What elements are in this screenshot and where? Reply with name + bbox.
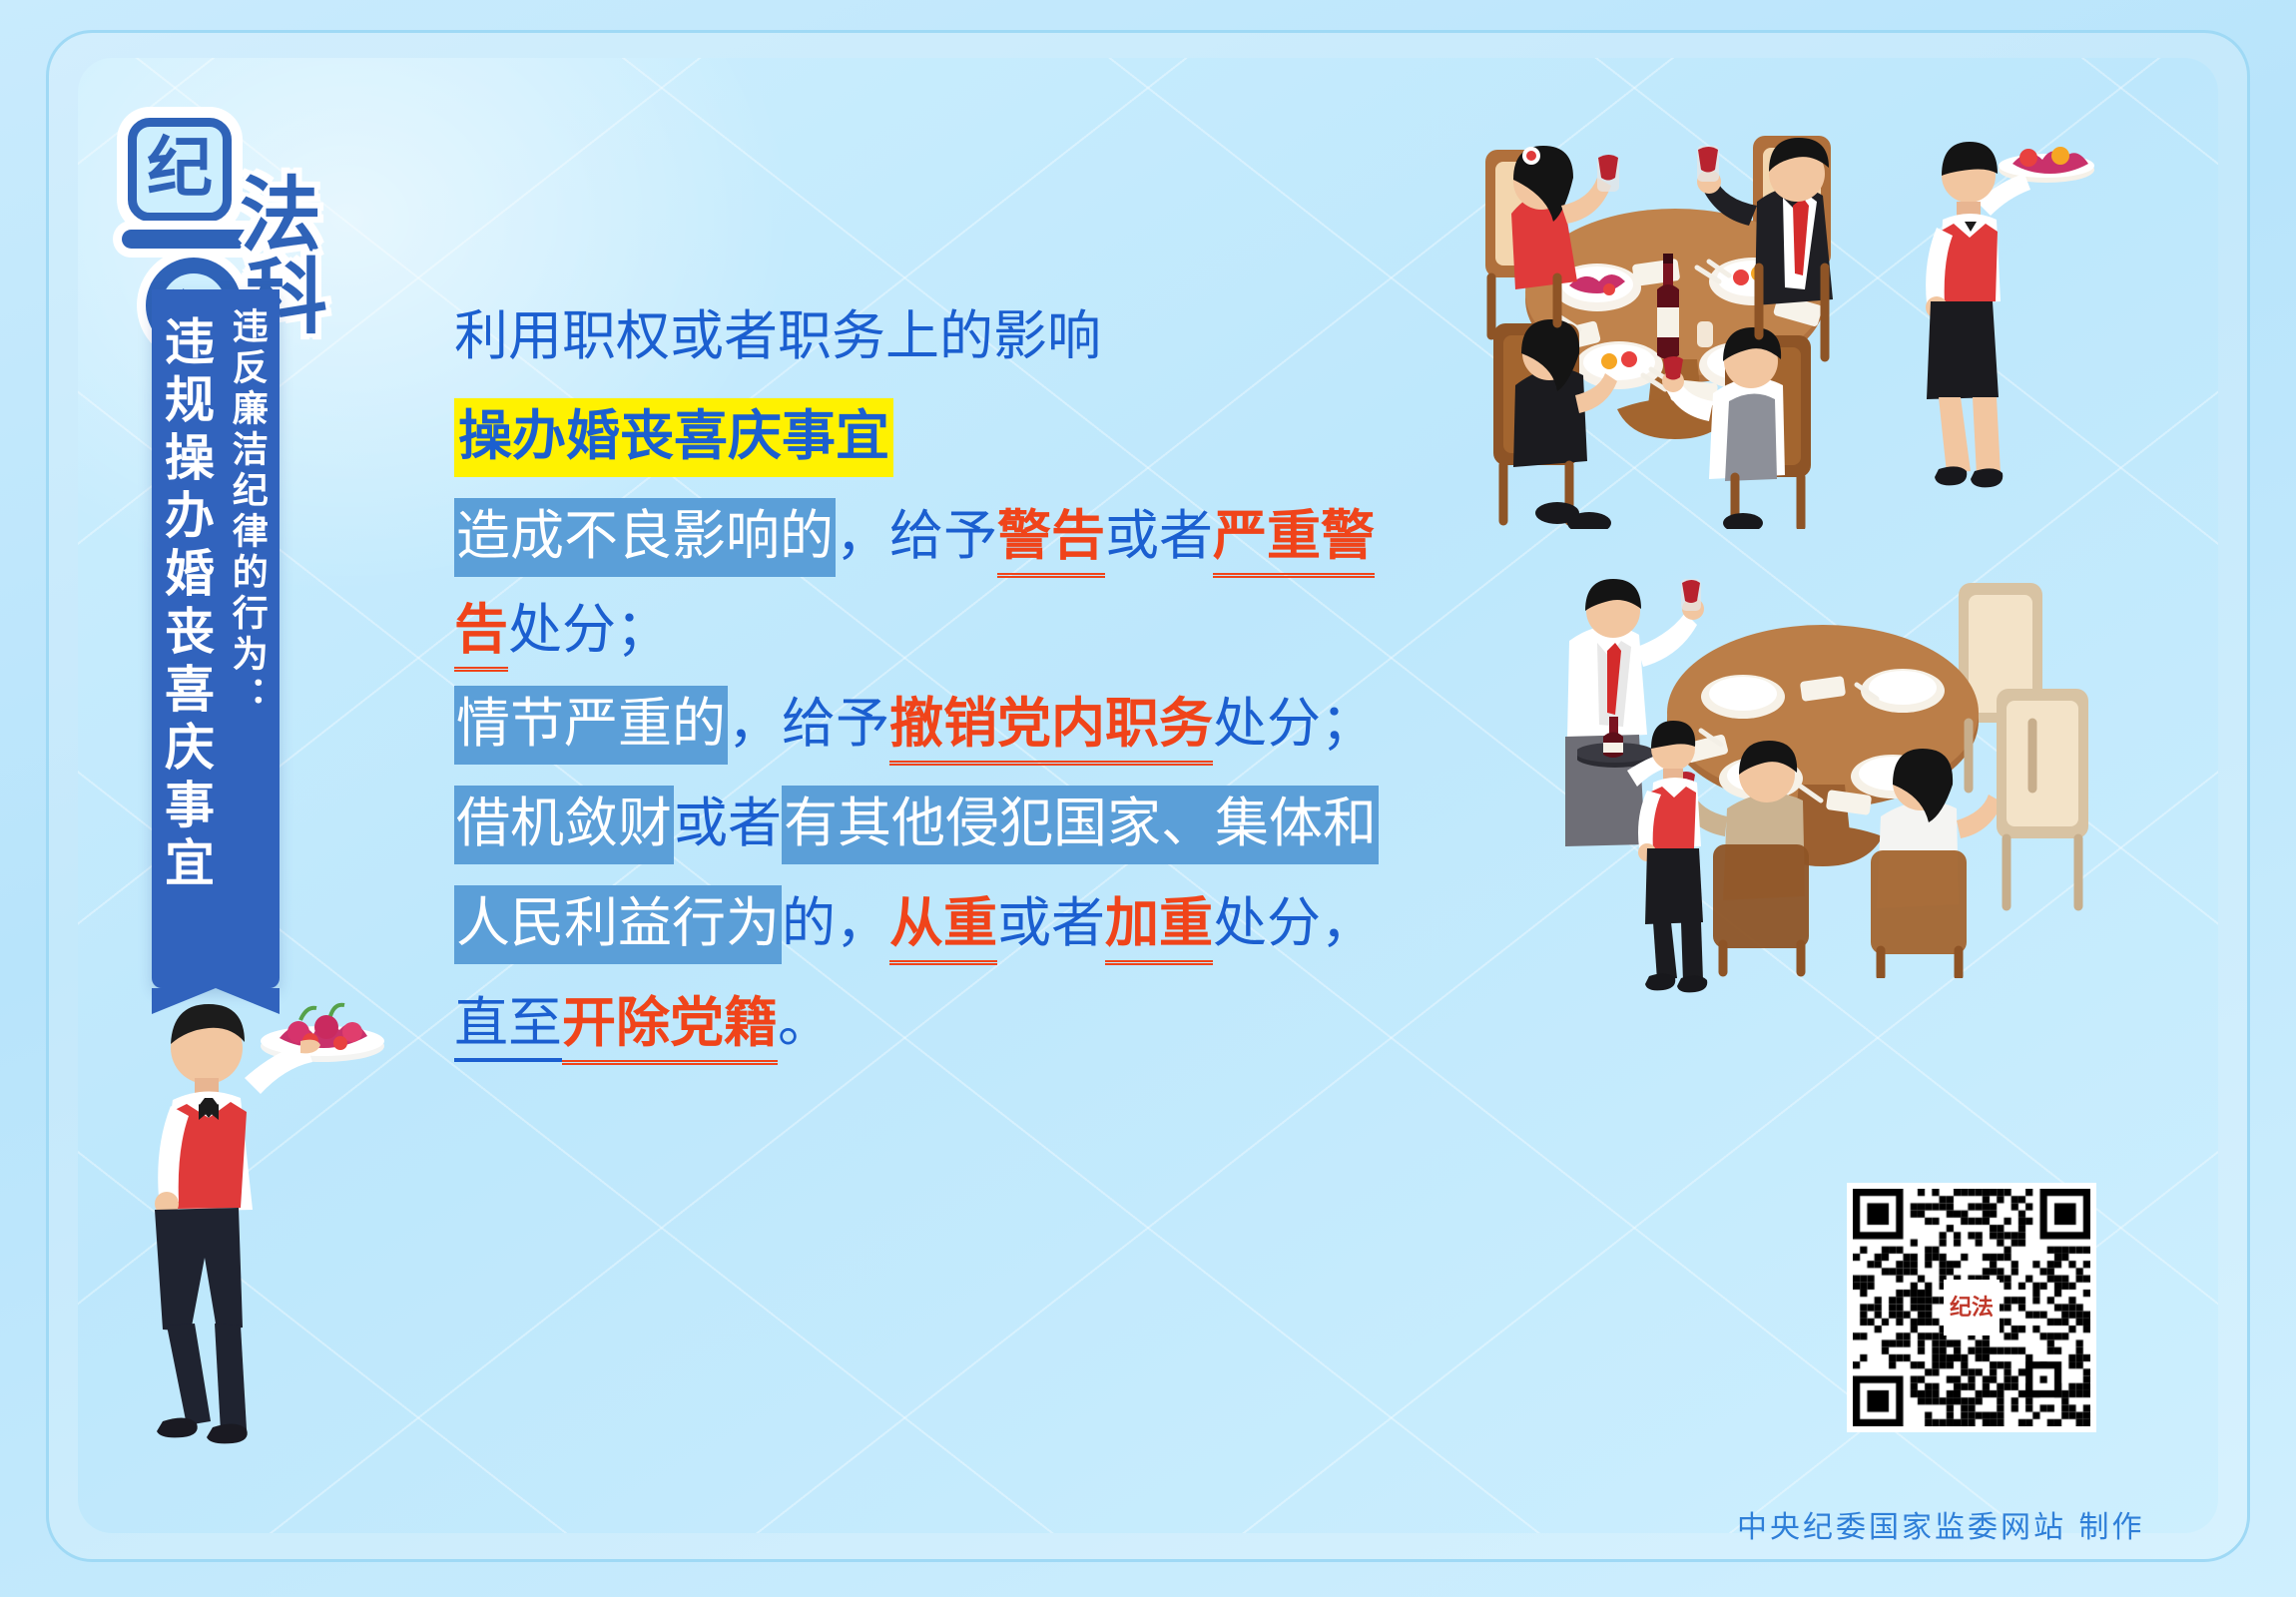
text-segment-highlight-blue: 有其他侵犯国家、集体和 [782, 786, 1379, 864]
text-segment-plain: 或者 [1105, 504, 1213, 567]
text-segment-blue-underline: 直至 [454, 991, 562, 1062]
text-segment-highlight-blue: 借机敛财 [454, 786, 674, 864]
logo-ji-char: 纪 [147, 136, 213, 202]
body-line: 造成不良影响的，给予警告或者严重警 [454, 509, 1572, 563]
banner-subtitle: 违反廉洁纪律的行为： [228, 307, 266, 717]
text-segment-plain: 处分； [1213, 692, 1375, 755]
text-segment-plain: 或者 [997, 891, 1105, 954]
text-segment-plain: ，给予 [728, 692, 889, 755]
text-segment-plain: 。 [778, 991, 832, 1054]
qr-center-logo: 纪法 [1944, 1280, 2000, 1335]
body-line: 人民利益行为的，从重或者加重处分， [454, 896, 1572, 950]
body-line: 借机敛财或者有其他侵犯国家、集体和 [454, 797, 1572, 850]
regulation-body-text: 利用职权或者职务上的影响操办婚丧喜庆事宜造成不良影响的，给予警告或者严重警告处分… [454, 309, 1572, 1096]
waiter-illustration-left [95, 928, 414, 1507]
text-segment-plain: 利用职权或者职务上的影响 [454, 304, 1101, 367]
text-segment-plain: 处分； [508, 598, 670, 661]
body-line: 告处分； [454, 603, 1572, 657]
credit-line: 中央纪委国家监委网站 制作 [1737, 1502, 2145, 1546]
poster-canvas: 纪 法 科 违规操办婚丧喜庆事宜 违反廉洁纪律的行为： 利用职权或者职务上的影响… [0, 0, 2296, 1597]
logo-bai-top-bar [122, 230, 258, 249]
text-segment-plain: 或者 [674, 792, 782, 854]
text-segment-highlight-blue: 人民利益行为 [454, 885, 782, 964]
text-segment-highlight-blue: 造成不良影响的 [454, 498, 836, 577]
qr-code[interactable]: 纪法 [1847, 1183, 2096, 1432]
logo-fa-char: 法 [240, 176, 321, 258]
waitress-standing-top [1926, 142, 2094, 487]
text-segment-red-underline: 从重 [889, 891, 997, 965]
text-segment-plain: 的， [782, 891, 889, 954]
banner-main-title: 违规操办婚丧喜庆事宜 [160, 315, 212, 894]
text-segment-red-underline: 严重警 [1213, 504, 1375, 578]
text-segment-plain: ，给予 [836, 504, 997, 567]
text-segment-highlight-blue: 情节严重的 [454, 686, 728, 765]
text-segment-red-underline: 警告 [997, 504, 1105, 578]
body-line: 利用职权或者职务上的影响 [454, 309, 1572, 363]
body-line: 操办婚丧喜庆事宜 [454, 409, 1572, 463]
waitress-illustration-middle [1577, 699, 1757, 998]
body-line: 情节严重的，给予撤销党内职务处分； [454, 697, 1572, 751]
body-line: 直至开除党籍。 [454, 996, 1572, 1050]
vertical-title-banner: 违规操办婚丧喜庆事宜 违反廉洁纪律的行为： [152, 289, 280, 988]
text-segment-red-underline: 撤销党内职务 [889, 692, 1213, 766]
logo-ji-box: 纪 [128, 118, 232, 222]
text-segment-highlight-yellow: 操办婚丧喜庆事宜 [454, 398, 893, 477]
dining-scene-top [1457, 110, 2156, 529]
text-segment-red-underline: 告 [454, 598, 508, 672]
text-segment-plain: 处分， [1213, 891, 1375, 954]
text-segment-red-underline: 加重 [1105, 891, 1213, 965]
text-segment-red-underline: 开除党籍 [562, 991, 778, 1065]
